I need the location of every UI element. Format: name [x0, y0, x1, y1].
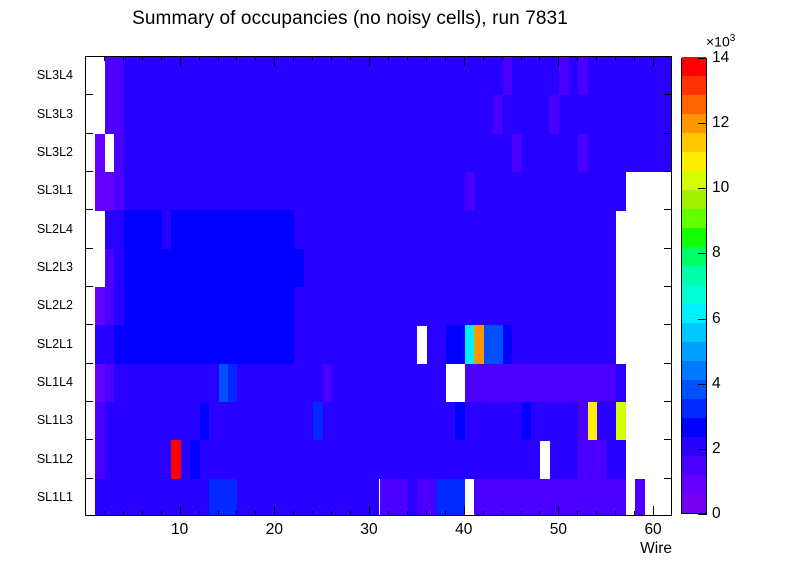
y-axis-tick [664, 94, 672, 95]
heatmap-cell [294, 287, 597, 326]
heatmap-cell [124, 134, 512, 173]
x-axis-minor-tick-top [104, 56, 105, 61]
heatmap-cell [228, 364, 237, 403]
colorbar-exponent: ×103 [706, 33, 735, 50]
x-axis-minor-tick [331, 511, 332, 516]
heatmap-cell [559, 210, 616, 249]
y-axis-tick [85, 248, 93, 249]
y-axis-tick [664, 363, 672, 364]
x-axis-minor-tick-top [577, 56, 578, 61]
x-axis-minor-tick [142, 511, 143, 516]
colorbar-band [682, 342, 706, 362]
heatmap-cell [313, 402, 322, 441]
x-axis-minor-tick-top [596, 56, 597, 61]
heatmap-cell [152, 440, 171, 479]
y-axis-tick [664, 209, 672, 210]
heatmap-cell [237, 364, 322, 403]
heatmap-cell [124, 95, 493, 134]
plot-frame [85, 56, 672, 516]
heatmap-cell [181, 440, 190, 479]
x-axis-minor-tick [255, 511, 256, 516]
heatmap-cell [550, 95, 559, 134]
heatmap-cell [124, 325, 294, 364]
x-axis-title: Wire [0, 540, 672, 558]
colorbar-label-0: 0 [712, 505, 721, 523]
heatmap-cell [588, 57, 672, 96]
colorbar-band [682, 228, 706, 248]
x-axis-minor-tick-top [634, 56, 635, 61]
y-axis-tick [664, 401, 672, 402]
x-axis-minor-tick [293, 511, 294, 516]
x-axis-minor-tick-top [539, 56, 540, 61]
colorbar-tick [698, 188, 707, 189]
heatmap-cell [114, 287, 123, 326]
y-axis-label-sl2l2: SL2L2 [37, 298, 73, 312]
heatmap-cell [559, 57, 568, 96]
y-axis-label-sl2l3: SL2L3 [37, 260, 73, 274]
x-axis-minor-tick-top [161, 56, 162, 61]
heatmap-cell [578, 134, 587, 173]
colorbar-label-14: 14 [712, 49, 729, 67]
colorbar-band [682, 133, 706, 153]
heatmap-cell [484, 325, 503, 364]
heatmap-cell [465, 402, 522, 441]
heatmap-cell [294, 210, 559, 249]
heatmap-cell [105, 325, 114, 364]
colorbar-band [682, 399, 706, 419]
colorbar-label-10: 10 [712, 179, 729, 197]
y-axis-tick [85, 133, 93, 134]
x-axis-minor-tick [312, 511, 313, 516]
colorbar-tick [698, 253, 707, 254]
colorbar-band [682, 171, 706, 191]
heatmap-cell [105, 287, 114, 326]
y-axis-label-sl1l1: SL1L1 [37, 490, 73, 504]
colorbar-label-6: 6 [712, 310, 721, 328]
x-axis-minor-tick [161, 511, 162, 516]
y-axis-label-sl1l4: SL1L4 [37, 375, 73, 389]
colorbar-band [682, 456, 706, 476]
heatmap-cell [465, 364, 616, 403]
x-axis-minor-tick [596, 511, 597, 516]
heatmap-cell [389, 440, 417, 479]
x-axis-minor-tick-top [199, 56, 200, 61]
heatmap-cell [95, 325, 104, 364]
colorbar-band [682, 437, 706, 457]
heatmap-cell [512, 134, 521, 173]
x-axis-minor-tick [539, 511, 540, 516]
x-axis-major-tick-top [558, 56, 559, 66]
heatmap-cell [95, 364, 104, 403]
heatmap-cell [219, 364, 228, 403]
x-axis-minor-tick [521, 511, 522, 516]
heatmap-cell [114, 95, 123, 134]
x-axis-minor-tick-top [350, 56, 351, 61]
x-axis-label-10: 10 [171, 521, 188, 539]
y-axis-label-sl1l3: SL1L3 [37, 413, 73, 427]
x-axis-minor-tick-top [293, 56, 294, 61]
heatmap-cell [578, 249, 616, 288]
heatmap-cell [436, 479, 464, 516]
heatmap-cell [171, 440, 180, 479]
x-axis-minor-tick [483, 511, 484, 516]
x-axis-minor-tick-top [407, 56, 408, 61]
colorbar-tick [698, 58, 707, 59]
heatmap-cell [95, 287, 104, 326]
heatmap-cell [370, 479, 379, 516]
x-axis-label-40: 40 [455, 521, 472, 539]
heatmap-cell [190, 440, 199, 479]
x-axis-major-tick [369, 506, 370, 516]
heatmap-cell [105, 440, 152, 479]
heatmap-cell [455, 402, 464, 441]
x-axis-minor-tick [615, 511, 616, 516]
x-axis-minor-tick-top [502, 56, 503, 61]
heatmap-cell [512, 325, 616, 364]
heatmap-cell [105, 249, 114, 288]
colorbar-band [682, 76, 706, 96]
heatmap-cell [200, 402, 209, 441]
heatmap-cell [124, 249, 304, 288]
heatmap-cell [105, 402, 190, 441]
heatmap-cell [512, 57, 559, 96]
colorbar-label-2: 2 [712, 440, 721, 458]
y-axis-tick [664, 286, 672, 287]
x-axis-minor-tick-top [236, 56, 237, 61]
colorbar-band [682, 380, 706, 400]
colorbar-tick [698, 123, 707, 124]
heatmap-cell [323, 364, 332, 403]
heatmap-cell [171, 210, 180, 249]
heatmap-cell [465, 440, 541, 479]
x-axis-major-tick [558, 506, 559, 516]
colorbar-label-4: 4 [712, 375, 721, 393]
y-axis-tick [664, 439, 672, 440]
y-axis-tick [85, 439, 93, 440]
y-axis-label-sl3l1: SL3L1 [37, 183, 73, 197]
x-axis-minor-tick-top [388, 56, 389, 61]
x-axis-minor-tick-top [218, 56, 219, 61]
y-axis-tick [664, 171, 672, 172]
x-axis-major-tick-top [180, 56, 181, 66]
y-axis-tick [664, 248, 672, 249]
heatmap-cell [332, 479, 341, 516]
colorbar-band [682, 494, 706, 514]
colorbar-label-12: 12 [712, 114, 729, 132]
y-axis-tick [85, 209, 93, 210]
heatmap-cell [237, 402, 313, 441]
colorbar-label-8: 8 [712, 244, 721, 262]
x-axis-minor-tick [634, 511, 635, 516]
heatmap-cell [105, 364, 114, 403]
heatmap-cell [95, 172, 104, 211]
heatmap-cell [503, 95, 550, 134]
x-axis-label-20: 20 [266, 521, 283, 539]
y-axis-tick [664, 133, 672, 134]
heatmap-cell [114, 172, 123, 211]
x-axis-minor-tick-top [521, 56, 522, 61]
heatmap-cell [162, 210, 171, 249]
heatmap-cell [635, 479, 644, 516]
x-axis-major-tick [180, 506, 181, 516]
heatmap-cell [114, 134, 123, 173]
colorbar-band [682, 285, 706, 305]
colorbar-band [682, 95, 706, 115]
colorbar-band [682, 475, 706, 495]
colorbar-band [682, 323, 706, 343]
heatmap-cell [275, 440, 389, 479]
colorbar-band [682, 361, 706, 381]
y-axis-label-sl2l4: SL2L4 [37, 222, 73, 236]
colorbar-band [682, 190, 706, 210]
heatmap-cell [114, 210, 123, 249]
heatmap-cell [474, 172, 625, 211]
colorbar-tick [698, 514, 707, 515]
heatmap-cell [124, 287, 294, 326]
colorbar-tick [698, 449, 707, 450]
heatmap-cell [342, 479, 370, 516]
heatmap-cell [408, 479, 417, 516]
colorbar-band [682, 266, 706, 286]
heatmap-cell [588, 402, 597, 441]
heatmap-cell [105, 210, 114, 249]
heatmap-cell [578, 402, 587, 441]
x-axis-major-tick [274, 506, 275, 516]
x-axis-minor-tick [236, 511, 237, 516]
x-axis-minor-tick [577, 511, 578, 516]
root-canvas: Summary of occupancies (no noisy cells),… [0, 0, 796, 572]
heatmap-cell [95, 440, 104, 479]
x-axis-minor-tick-top [426, 56, 427, 61]
heatmap-cell [465, 325, 474, 364]
y-axis-tick [85, 363, 93, 364]
x-axis-minor-tick [123, 511, 124, 516]
heatmap-cell [550, 440, 578, 479]
y-axis-tick [85, 94, 93, 95]
heatmap-cell [95, 134, 104, 173]
x-axis-label-50: 50 [550, 521, 567, 539]
heatmap-cell [323, 402, 408, 441]
x-axis-minor-tick [445, 511, 446, 516]
heatmap-cell [474, 325, 483, 364]
y-axis-label-sl3l4: SL3L4 [37, 68, 73, 82]
heatmap-cell [380, 479, 408, 516]
heatmap-cell [114, 325, 123, 364]
y-axis-label-sl2l1: SL2L1 [37, 337, 73, 351]
heatmap-cell [105, 172, 114, 211]
x-axis-major-tick-top [653, 56, 654, 66]
heatmap-cell [616, 402, 625, 441]
colorbar-band [682, 209, 706, 229]
x-axis-minor-tick-top [142, 56, 143, 61]
x-axis-minor-tick [104, 511, 105, 516]
x-axis-minor-tick [350, 511, 351, 516]
heatmap-cell [607, 440, 626, 479]
x-axis-minor-tick [199, 511, 200, 516]
x-axis-minor-tick-top [123, 56, 124, 61]
heatmap-cell [597, 402, 616, 441]
heatmap-cell [465, 172, 474, 211]
colorbar [681, 58, 707, 514]
colorbar-band [682, 304, 706, 324]
heatmap-cell [446, 325, 465, 364]
x-axis-label-60: 60 [644, 521, 661, 539]
heatmap-cell [304, 249, 579, 288]
x-axis-minor-tick [502, 511, 503, 516]
heatmap-cell [332, 364, 446, 403]
x-axis-minor-tick-top [445, 56, 446, 61]
heatmap-cell [181, 210, 295, 249]
x-axis-minor-tick [426, 511, 427, 516]
x-axis-major-tick [464, 506, 465, 516]
x-axis-minor-tick [218, 511, 219, 516]
heatmap-cell [616, 364, 625, 403]
heatmap-cell [114, 57, 123, 96]
heatmap-cell [105, 95, 114, 134]
heatmap-cell [124, 210, 162, 249]
x-axis-minor-tick-top [255, 56, 256, 61]
heatmap-cell [578, 440, 606, 479]
heatmap-cell [578, 57, 587, 96]
y-axis-tick [664, 324, 672, 325]
heatmap-cell [219, 402, 238, 441]
heatmap-cell [209, 402, 218, 441]
heatmap-cell [503, 325, 512, 364]
heatmap-cell [427, 325, 446, 364]
heatmap-cell [408, 402, 455, 441]
x-axis-major-tick-top [464, 56, 465, 66]
y-axis-labels: SL3L4SL3L3SL3L2SL3L1SL2L4SL2L3SL2L2SL2L1… [0, 56, 81, 516]
x-axis-minor-tick-top [331, 56, 332, 61]
x-axis-major-tick [653, 506, 654, 516]
heatmap-cell [522, 134, 579, 173]
heatmap-cell [114, 249, 123, 288]
x-axis-minor-tick-top [312, 56, 313, 61]
heatmap-cell [209, 479, 237, 516]
heatmap-cell [417, 440, 464, 479]
y-axis-tick [85, 286, 93, 287]
y-axis-tick [664, 478, 672, 479]
heatmap-cell [474, 479, 625, 516]
x-axis-label-30: 30 [360, 521, 377, 539]
colorbar-tick [698, 384, 707, 385]
heatmap-cells [86, 57, 671, 515]
y-axis-label-sl3l2: SL3L2 [37, 145, 73, 159]
heatmap-cell [114, 364, 218, 403]
colorbar-band [682, 418, 706, 438]
heatmap-cell [190, 402, 199, 441]
heatmap-cell [124, 172, 465, 211]
heatmap-cell [105, 479, 209, 516]
x-axis-minor-tick-top [615, 56, 616, 61]
x-axis-major-tick-top [274, 56, 275, 66]
x-axis-minor-tick-top [483, 56, 484, 61]
x-axis-major-tick-top [369, 56, 370, 66]
colorbar-band [682, 152, 706, 172]
heatmap-cell [522, 402, 531, 441]
heatmap-cell [294, 325, 417, 364]
y-axis-tick [85, 171, 93, 172]
colorbar-tick [698, 319, 707, 320]
y-axis-label-sl1l2: SL1L2 [37, 452, 73, 466]
heatmap-cell [503, 57, 512, 96]
heatmap-cell [493, 95, 502, 134]
heatmap-cell [559, 95, 672, 134]
x-axis-minor-tick [407, 511, 408, 516]
heatmap-cell [219, 440, 276, 479]
colorbar-band [682, 57, 706, 77]
y-axis-label-sl3l3: SL3L3 [37, 107, 73, 121]
x-axis-minor-tick [388, 511, 389, 516]
heatmap-cell [105, 57, 114, 96]
heatmap-cell [200, 440, 219, 479]
y-axis-tick [85, 478, 93, 479]
heatmap-cell [569, 57, 578, 96]
heatmap-cell [531, 402, 578, 441]
y-axis-tick [85, 324, 93, 325]
page-title: Summary of occupancies (no noisy cells),… [0, 8, 700, 30]
colorbar-band [682, 247, 706, 267]
heatmap-cell [95, 402, 104, 441]
heatmap-cell [313, 479, 322, 516]
heatmap-cell [597, 287, 616, 326]
heatmap-cell [588, 134, 672, 173]
y-axis-tick [85, 401, 93, 402]
